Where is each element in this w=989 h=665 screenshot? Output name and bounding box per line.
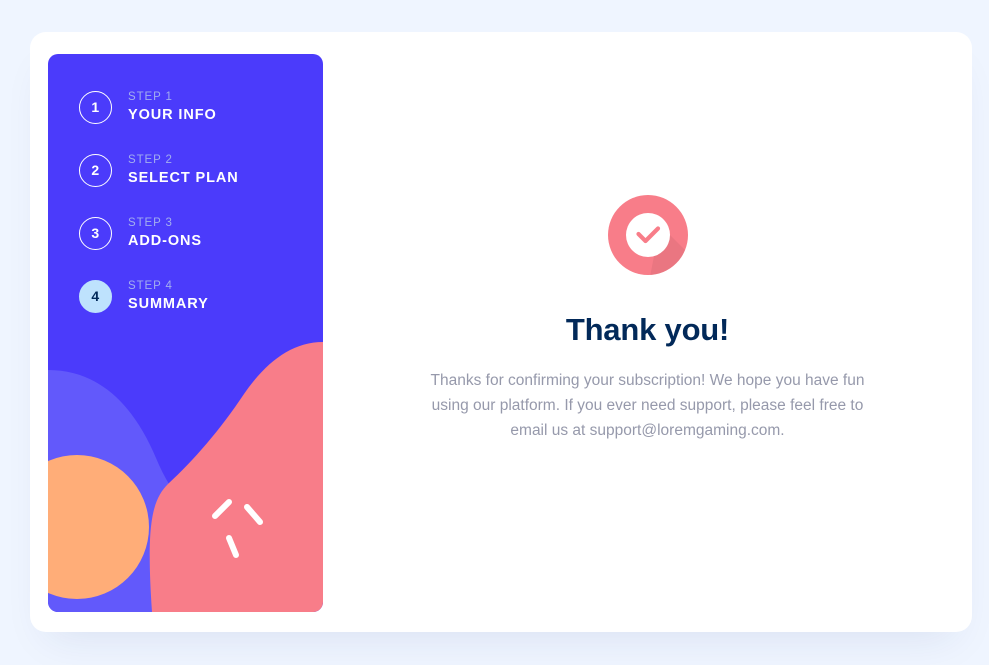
step-1-title: YOUR INFO	[128, 108, 217, 123]
wave-shape	[48, 370, 323, 612]
step-1-kicker: STEP 1	[128, 92, 217, 104]
page-title: Thank you!	[413, 312, 883, 348]
step-4-title: SUMMARY	[128, 297, 209, 312]
success-check-icon	[608, 195, 688, 275]
step-sidebar: 1 STEP 1 YOUR INFO 2 STEP 2 SELECT PLAN …	[48, 54, 323, 612]
confirmation-message: Thanks for confirming your subscription!…	[413, 368, 883, 443]
white-dash-2	[247, 507, 260, 522]
step-3-title: ADD-ONS	[128, 234, 202, 249]
step-2-kicker: STEP 2	[128, 155, 239, 167]
step-4-text: STEP 4 SUMMARY	[128, 281, 209, 312]
white-dash-3	[229, 538, 236, 555]
step-2-text: STEP 2 SELECT PLAN	[128, 155, 239, 186]
sidebar-step-2[interactable]: 2 STEP 2 SELECT PLAN	[79, 150, 323, 190]
step-3-text: STEP 3 ADD-ONS	[128, 218, 202, 249]
orange-circle	[48, 455, 149, 599]
sidebar-step-4[interactable]: 4 STEP 4 SUMMARY	[79, 276, 323, 316]
step-list: 1 STEP 1 YOUR INFO 2 STEP 2 SELECT PLAN …	[48, 54, 323, 316]
sidebar-step-1[interactable]: 1 STEP 1 YOUR INFO	[79, 87, 323, 127]
step-3-kicker: STEP 3	[128, 218, 202, 230]
step-2-number-badge: 2	[79, 154, 112, 187]
step-1-text: STEP 1 YOUR INFO	[128, 92, 217, 123]
app-card: 1 STEP 1 YOUR INFO 2 STEP 2 SELECT PLAN …	[30, 32, 972, 632]
thank-you-block: Thank you! Thanks for confirming your su…	[413, 195, 883, 443]
step-4-number-badge: 4	[79, 280, 112, 313]
step-2-title: SELECT PLAN	[128, 171, 239, 186]
step-4-kicker: STEP 4	[128, 281, 209, 293]
main-content-panel: Thank you! Thanks for confirming your su…	[323, 54, 972, 632]
step-1-number-badge: 1	[79, 91, 112, 124]
white-dash-1	[215, 502, 229, 516]
step-3-number-badge: 3	[79, 217, 112, 250]
pink-blob	[150, 342, 323, 612]
sidebar-step-3[interactable]: 3 STEP 3 ADD-ONS	[79, 213, 323, 253]
